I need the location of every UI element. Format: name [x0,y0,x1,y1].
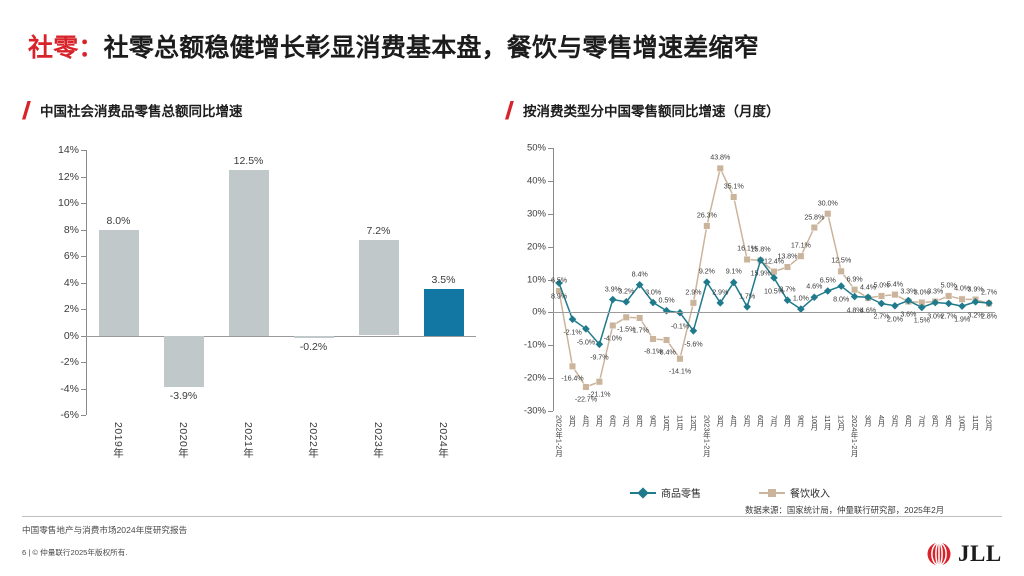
legend-marker-square-icon [759,488,785,498]
line-x-label: 9月 [795,415,806,427]
line-value-label: 15.9% [751,269,771,278]
bar-x-label: 2022年 [306,422,321,458]
line-x-label: 8月 [634,415,645,427]
line-value-label: 8.0% [833,295,849,304]
line-value-label: 2.9% [685,287,701,296]
legend-item-goods-retail[interactable]: 商品零售 [630,485,701,500]
line-x-label: 11月 [970,415,981,430]
line-value-label: -0.1% [671,321,689,330]
bar-2019年[interactable] [99,230,139,336]
line-x-label: 12月 [688,415,699,431]
left-chart-panel: 中国社会消费品零售总额同比增速 14%12%10%8%6%4%2%0%-2%-4… [22,100,492,500]
left-panel-title: 中国社会消费品零售总额同比增速 [40,100,243,120]
bar-value-label: -3.9% [170,390,197,402]
line-value-label: 3.7% [779,285,795,294]
line-value-label: -14.1% [669,366,691,375]
bar-x-label: 2019年 [111,422,126,458]
line-value-label: 2.7% [981,288,997,297]
line-value-label: -1.7% [631,325,649,334]
line-x-label: 6月 [607,415,618,427]
line-x-label: 7月 [916,415,927,427]
line-chart-plot-area: 50%40%30%20%10%0%-10%-20%-30%8.9%-2.1%-5… [553,148,995,411]
line-x-label: 5月 [594,415,605,427]
line-x-label: 2024年1-2月 [849,415,860,457]
line-x-label: 12月 [983,415,994,431]
line-value-label: 13.8% [777,252,797,261]
line-value-label: 17.1% [791,241,811,250]
line-value-label: -4.0% [604,333,622,342]
line-y-tick-label: 20% [527,241,553,252]
line-value-label: -5.6% [684,339,702,348]
line-value-label: -16.4% [561,374,583,383]
jll-globe-icon [925,540,953,568]
bar-value-label: 12.5% [234,155,264,167]
line-x-label: 10月 [661,415,672,431]
line-chart-svg [553,148,995,411]
line-y-tick-label: -30% [524,406,553,417]
line-value-label: 8.9% [551,292,567,301]
line-x-label: 12月 [836,415,847,431]
line-x-label: 2022年1-2月 [554,415,565,457]
line-value-label: 6.5% [551,276,567,285]
line-x-label: 7月 [769,415,780,427]
jll-wordmark: JLL [958,541,1002,567]
footer-report-name: 中国零售地产与消费市场2024年度研究报告 [22,524,187,536]
line-value-label: -5.0% [577,337,595,346]
bar-value-label: 3.5% [432,274,456,286]
line-x-label: 11月 [822,415,833,430]
line-value-label: 3.2% [618,286,634,295]
line-value-label: 8.4% [632,269,648,278]
bar-y-tick-label: 6% [64,250,86,262]
bar-y-tick-label: 10% [58,197,86,209]
bar-y-tick-label: 14% [58,144,86,156]
line-x-label: 4月 [876,415,887,427]
line-value-label: 2.8% [981,312,997,321]
line-value-label: 12.5% [831,256,851,265]
line-x-label: 4月 [728,415,739,427]
bar-zero-line [86,336,476,337]
page-title-accent: 社零： [28,34,104,62]
line-y-tick-label: 30% [527,208,553,219]
footer-copyright: 6 | © 仲量联行2025年版权所有. [22,547,127,558]
bar-value-label: -0.2% [300,341,327,353]
line-y-tick-label: 40% [527,175,553,186]
bar-x-label: 2020年 [176,422,191,458]
page-title: 社零：社零总额稳健增长彰显消费基本盘，餐饮与零售增速差缩窄 [28,28,996,64]
bar-2022年[interactable] [294,336,334,339]
right-chart-panel: 按消费类型分中国零售额同比增速（月度） 50%40%30%20%10%0%-10… [505,100,1015,520]
line-value-label: 25.8% [804,212,824,221]
line-x-label: 6月 [755,415,766,427]
bar-x-label: 2023年 [371,422,386,458]
red-slash-icon [505,101,514,120]
left-panel-header: 中国社会消费品零售总额同比增速 [22,100,492,120]
legend-marker-diamond-icon [630,488,656,498]
bar-y-tick-label: -4% [60,383,86,395]
line-x-label: 3月 [567,415,578,427]
data-source-note: 数据来源：国家统计局，仲量联行研究部，2025年2月 [745,504,944,516]
line-value-label: 30.0% [818,198,838,207]
bar-value-label: 7.2% [367,225,391,237]
line-value-label: 26.3% [697,210,717,219]
page-title-rest: 社零总额稳健增长彰显消费基本盘，餐饮与零售增速差缩窄 [104,34,759,62]
line-x-label: 11月 [674,415,685,430]
line-x-label: 6月 [903,415,914,427]
line-x-label: 3月 [715,415,726,427]
right-panel-title: 按消费类型分中国零售额同比增速（月度） [523,100,780,120]
line-value-label: 35.1% [724,181,744,190]
bar-y-axis [86,150,87,415]
line-x-label: 5月 [889,415,900,427]
bar-2021年[interactable] [229,170,269,336]
line-x-label: 10月 [957,415,968,431]
line-value-label: 2.9% [712,287,728,296]
chart-legend: 商品零售 餐饮收入 [630,485,830,500]
line-x-label: 3月 [863,415,874,427]
line-value-label: -9.7% [590,353,608,362]
bar-x-label: 2024年 [436,422,451,458]
red-slash-icon [22,101,31,120]
line-x-label: 2023年1-2月 [701,415,712,457]
bar-2023年[interactable] [359,240,399,335]
line-value-label: 6.5% [820,276,836,285]
line-x-label: 5月 [742,415,753,427]
line-value-label: 1.0% [793,294,809,303]
line-x-label: 9月 [648,415,659,427]
line-x-label: 7月 [621,415,632,427]
line-y-tick-label: 10% [527,274,553,285]
bar-chart-plot-area: 14%12%10%8%6%4%2%0%-2%-4%-6%8.0%2019年-3.… [86,150,476,415]
bar-y-tick-label: 2% [64,303,86,315]
jll-logo: JLL [925,540,1002,568]
bar-y-tick-label: 0% [64,330,86,342]
line-y-tick-label: -10% [524,340,553,351]
line-x-label: 8月 [930,415,941,427]
line-value-label: 43.8% [710,153,730,162]
line-x-label: 4月 [580,415,591,427]
line-y-tick-label: 50% [527,143,553,154]
bar-2020年[interactable] [164,336,204,388]
bar-y-tick-label: 8% [64,224,86,236]
line-value-label: 9.2% [699,267,715,276]
line-value-label: -8.4% [657,347,675,356]
line-value-label: 0.5% [659,295,675,304]
bar-value-label: 8.0% [107,215,131,227]
bar-y-tick-label: -2% [60,356,86,368]
bar-y-tick-label: 12% [58,171,86,183]
bar-x-label: 2021年 [241,422,256,458]
footer-divider [22,516,1002,517]
bar-y-tick-label: 4% [64,277,86,289]
line-value-label: 15.8% [751,245,771,254]
legend-label: 商品零售 [661,485,701,500]
right-panel-header: 按消费类型分中国零售额同比增速（月度） [505,100,1015,120]
line-value-label: -21.1% [588,389,610,398]
legend-item-catering-revenue[interactable]: 餐饮收入 [759,485,830,500]
legend-label: 餐饮收入 [790,485,830,500]
line-x-label: 9月 [943,415,954,427]
line-y-tick-label: -20% [524,373,553,384]
bar-y-tick-label: -6% [60,409,86,421]
line-value-label: 9.1% [726,267,742,276]
line-value-label: 1.7% [739,291,755,300]
line-y-tick-label: 0% [532,307,553,318]
bar-2024年[interactable] [424,289,464,335]
line-x-label: 8月 [782,415,793,427]
line-value-label: -2.1% [563,328,581,337]
line-x-label: 10月 [809,415,820,431]
